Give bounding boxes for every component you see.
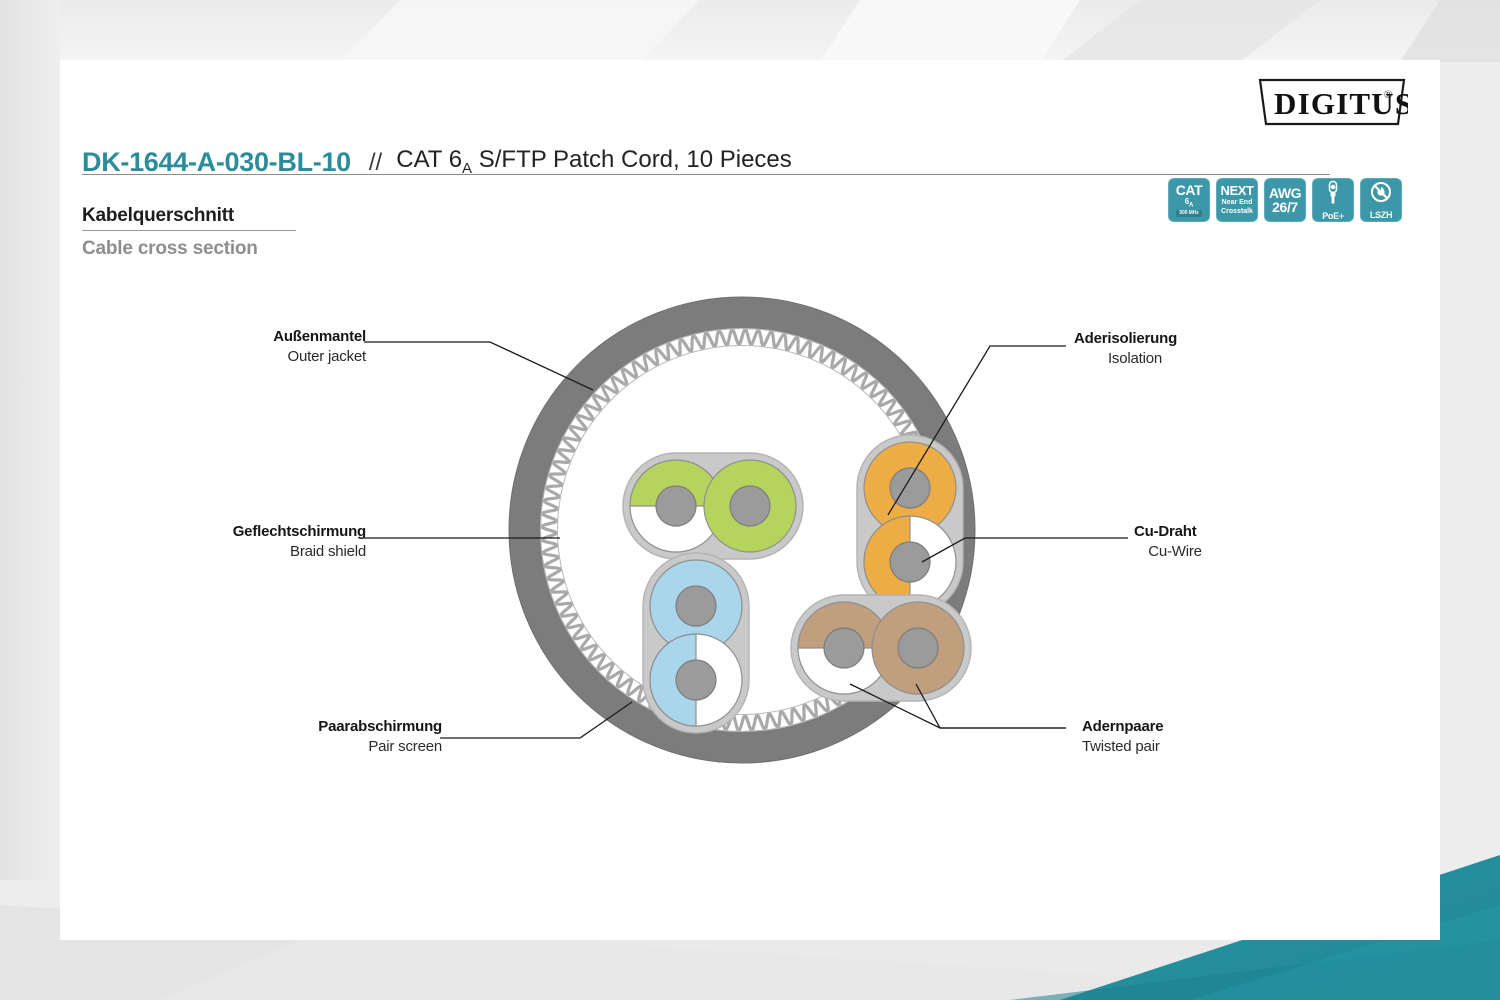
badge-awg: AWG 26/7 bbox=[1264, 178, 1306, 222]
badge-awg-value: 26/7 bbox=[1272, 200, 1298, 214]
callout-isolation-de: Aderisolierung bbox=[1074, 330, 1196, 347]
callout-pair-screen: Paarabschirmung Pair screen bbox=[190, 718, 442, 755]
no-flame-icon bbox=[1370, 181, 1392, 209]
title-underline bbox=[82, 174, 1330, 175]
callout-outer-jacket-de: Außenmantel bbox=[128, 328, 366, 345]
cu-core bbox=[730, 486, 770, 526]
callout-pair-screen-en: Pair screen bbox=[190, 738, 442, 755]
registered-mark: ® bbox=[1384, 89, 1392, 101]
callout-twisted-pair-de: Adernpaare bbox=[1082, 718, 1163, 735]
cu-core bbox=[898, 628, 938, 668]
badge-awg-title: AWG bbox=[1269, 186, 1301, 200]
cu-core bbox=[656, 486, 696, 526]
wire-green-full bbox=[704, 460, 796, 552]
callout-cu-wire-de: Cu-Draht bbox=[1134, 523, 1216, 540]
cu-core bbox=[890, 542, 930, 582]
badge-cat-frequency: 500 MHz bbox=[1176, 210, 1201, 217]
wire-orange-half bbox=[864, 516, 956, 608]
wire-blue-half bbox=[650, 634, 742, 726]
callout-braid-shield-en: Braid shield bbox=[120, 543, 366, 560]
plug-icon bbox=[1324, 180, 1342, 210]
cu-core bbox=[676, 660, 716, 700]
badge-next-desc: Near EndCrosstalk bbox=[1221, 199, 1253, 215]
callout-outer-jacket-en: Outer jacket bbox=[128, 348, 366, 365]
pair-brown bbox=[791, 595, 971, 701]
section-heading-de: Kabelquerschnitt bbox=[82, 205, 234, 227]
callout-cu-wire-en: Cu-Wire bbox=[1134, 543, 1216, 560]
product-description-pre: CAT 6 bbox=[396, 146, 462, 173]
digitus-logo: DIGITUS ® bbox=[1256, 76, 1408, 128]
callout-braid-shield-de: Geflechtschirmung bbox=[120, 523, 366, 540]
product-title-row: DK-1644-A-030-BL-10 // CAT 6A S/FTP Patc… bbox=[82, 134, 1332, 176]
callout-isolation-en: Isolation bbox=[1074, 350, 1196, 367]
callout-outer-jacket: Außenmantel Outer jacket bbox=[128, 328, 366, 365]
badge-poe-plus: PoE+ bbox=[1312, 178, 1354, 222]
callout-isolation: Aderisolierung Isolation bbox=[1074, 330, 1196, 367]
product-description-post: S/FTP Patch Cord, 10 Pieces bbox=[472, 146, 792, 173]
badge-cat-class: 6A bbox=[1185, 198, 1193, 209]
title-separator: // bbox=[369, 151, 382, 175]
badge-cat-title: CAT bbox=[1176, 183, 1203, 197]
wire-brown-full bbox=[872, 602, 964, 694]
badge-lszh-label: LSZH bbox=[1370, 211, 1392, 220]
badge-lszh: LSZH bbox=[1360, 178, 1402, 222]
callout-twisted-pair: Adernpaare Twisted pair bbox=[1082, 718, 1163, 755]
product-description: CAT 6A S/FTP Patch Cord, 10 Pieces bbox=[396, 148, 792, 176]
pair-orange bbox=[857, 435, 963, 615]
callout-twisted-pair-en: Twisted pair bbox=[1082, 738, 1163, 755]
badge-next-title: NEXT bbox=[1220, 184, 1253, 197]
pair-green bbox=[623, 453, 803, 559]
badge-poe-label: PoE+ bbox=[1322, 212, 1344, 221]
callout-pair-screen-de: Paarabschirmung bbox=[190, 718, 442, 735]
callout-cu-wire: Cu-Draht Cu-Wire bbox=[1134, 523, 1216, 560]
cu-core bbox=[824, 628, 864, 668]
badge-next-line2: Crosstalk bbox=[1221, 208, 1253, 215]
badge-next: NEXT Near EndCrosstalk bbox=[1216, 178, 1258, 222]
badge-cat-6a: CAT 6A 500 MHz bbox=[1168, 178, 1210, 222]
leader-outer-jacket bbox=[364, 342, 593, 390]
feature-badges: CAT 6A 500 MHz NEXT Near EndCrosstalk AW… bbox=[1168, 178, 1402, 222]
cu-core bbox=[676, 586, 716, 626]
pair-blue bbox=[643, 553, 749, 733]
callout-braid-shield: Geflechtschirmung Braid shield bbox=[120, 523, 366, 560]
product-sku: DK-1644-A-030-BL-10 bbox=[82, 149, 351, 176]
badge-next-line1: Near End bbox=[1222, 199, 1253, 206]
section-heading-underline bbox=[82, 230, 296, 231]
badge-cat-class-sup: A bbox=[1189, 202, 1193, 208]
